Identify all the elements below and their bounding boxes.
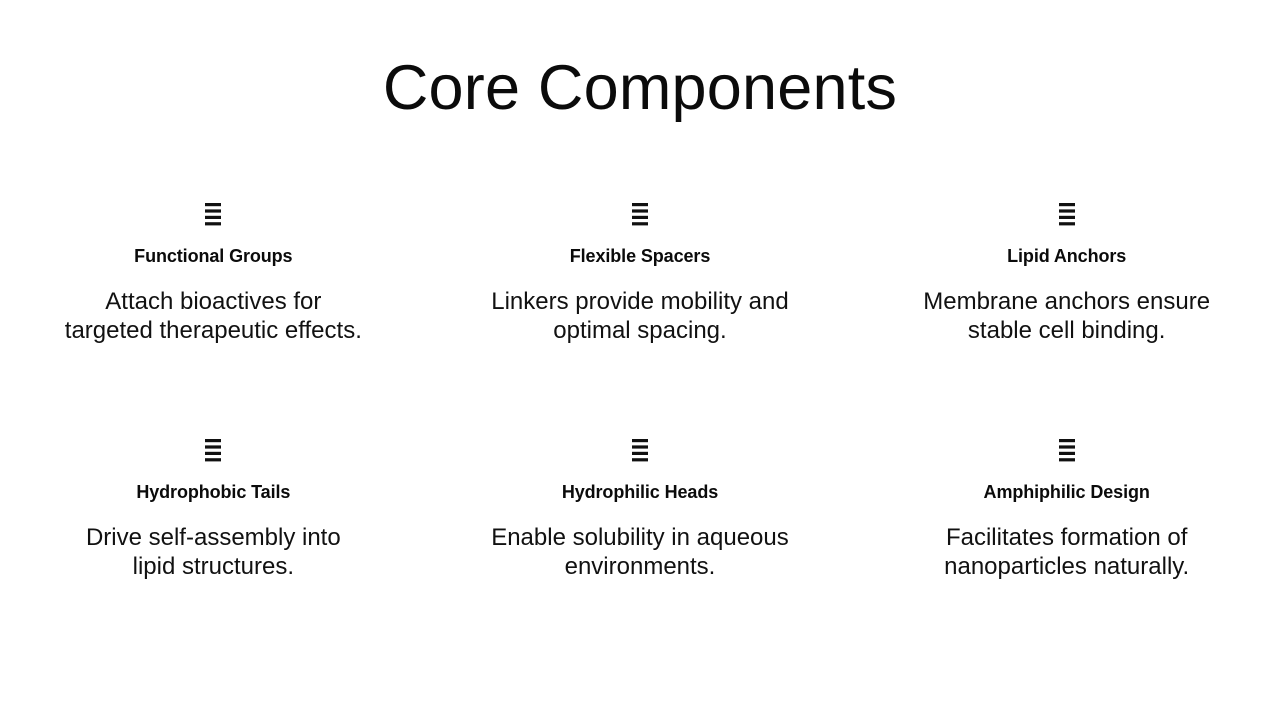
- feature-card-description: Enable solubility in aqueous environment…: [490, 523, 790, 581]
- feature-card-heading: Flexible Spacers: [570, 245, 710, 268]
- stacked-bars-icon: [1058, 202, 1076, 228]
- feature-card[interactable]: Functional Groups Attach bioactives for …: [0, 190, 427, 426]
- feature-card[interactable]: Flexible Spacers Linkers provide mobilit…: [427, 190, 854, 426]
- feature-card[interactable]: Amphiphilic Design Facilitates formation…: [853, 426, 1280, 662]
- stacked-bars-icon: [631, 202, 649, 228]
- stacked-bars-icon: [204, 438, 222, 464]
- feature-card-heading: Lipid Anchors: [1007, 245, 1126, 268]
- feature-card-description: Drive self-assembly into lipid structure…: [63, 523, 363, 581]
- feature-card-heading: Functional Groups: [134, 245, 292, 268]
- stacked-bars-icon: [204, 202, 222, 228]
- feature-card[interactable]: Hydrophilic Heads Enable solubility in a…: [427, 426, 854, 662]
- feature-card-description: Linkers provide mobility and optimal spa…: [490, 287, 790, 345]
- feature-card-heading: Hydrophobic Tails: [136, 481, 290, 504]
- feature-card-description: Facilitates formation of nanoparticles n…: [917, 523, 1217, 581]
- feature-card-heading: Amphiphilic Design: [984, 481, 1150, 504]
- stacked-bars-icon: [631, 438, 649, 464]
- stacked-bars-icon: [1058, 438, 1076, 464]
- feature-card-description: Attach bioactives for targeted therapeut…: [63, 287, 363, 345]
- page-title: Core Components: [0, 52, 1280, 124]
- feature-card-heading: Hydrophilic Heads: [562, 481, 718, 504]
- feature-grid: Functional Groups Attach bioactives for …: [0, 190, 1280, 662]
- slide-canvas: Core Components Functional Groups Attach…: [0, 0, 1280, 720]
- feature-card[interactable]: Lipid Anchors Membrane anchors ensure st…: [853, 190, 1280, 426]
- feature-card[interactable]: Hydrophobic Tails Drive self-assembly in…: [0, 426, 427, 662]
- feature-card-description: Membrane anchors ensure stable cell bind…: [917, 287, 1217, 345]
